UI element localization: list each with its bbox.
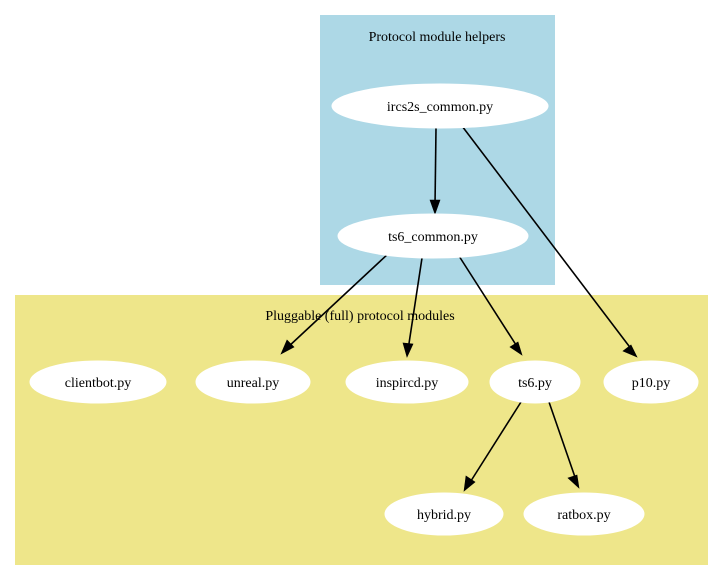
node-label-hybrid: hybrid.py	[417, 508, 471, 523]
diagram-canvas: Protocol module helpers Pluggable (full)…	[0, 0, 723, 580]
edge-line	[435, 128, 436, 206]
node-label-clientbot: clientbot.py	[65, 376, 132, 391]
protocol-module-graph: Protocol module helpers Pluggable (full)…	[0, 0, 723, 580]
node-label-p10: p10.py	[632, 376, 671, 391]
node-label-inspircd: inspircd.py	[376, 376, 439, 391]
node-unreal[interactable]: unreal.py	[196, 361, 310, 403]
node-ratbox[interactable]: ratbox.py	[524, 493, 644, 535]
node-ts6-common[interactable]: ts6_common.py	[338, 214, 528, 258]
node-ts6[interactable]: ts6.py	[490, 361, 580, 403]
cluster-modules-label: Pluggable (full) protocol modules	[265, 309, 454, 324]
node-p10[interactable]: p10.py	[604, 361, 698, 403]
node-label-ircs2s-common: ircs2s_common.py	[387, 100, 493, 115]
cluster-helpers-label: Protocol module helpers	[369, 30, 506, 45]
node-label-ratbox: ratbox.py	[557, 508, 610, 523]
node-label-ts6: ts6.py	[518, 376, 552, 391]
node-inspircd[interactable]: inspircd.py	[346, 361, 468, 403]
node-hybrid[interactable]: hybrid.py	[385, 493, 503, 535]
node-clientbot[interactable]: clientbot.py	[30, 361, 166, 403]
node-label-ts6-common: ts6_common.py	[388, 230, 478, 245]
node-label-unreal: unreal.py	[227, 376, 279, 391]
node-ircs2s-common[interactable]: ircs2s_common.py	[332, 84, 548, 128]
